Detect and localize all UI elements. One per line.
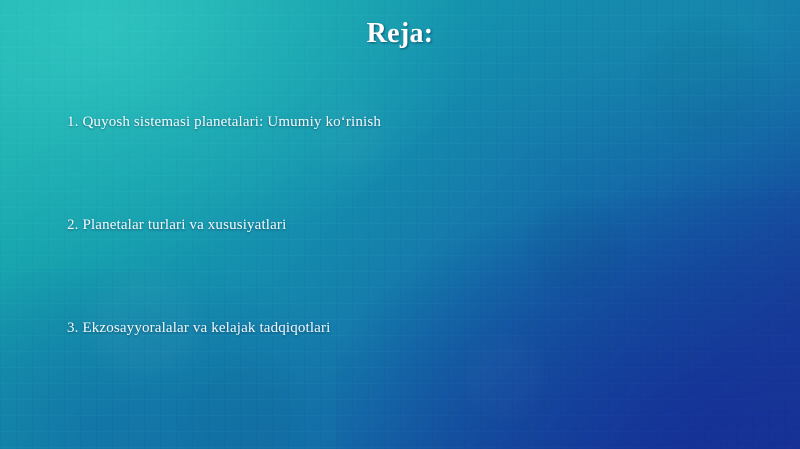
agenda-item: 2. Planetalar turlari va xususiyatlari [67, 215, 707, 318]
slide-content: Reja: 1. Quyosh sistemasi planetalari: U… [0, 0, 800, 449]
agenda-item: 1. Quyosh sistemasi planetalari: Umumiy … [67, 112, 707, 215]
agenda-list: 1. Quyosh sistemasi planetalari: Umumiy … [67, 112, 707, 421]
agenda-item: 3. Ekzosayyoralalar va kelajak tadqiqotl… [67, 318, 707, 421]
slide-title: Reja: [0, 18, 800, 50]
presentation-slide: Reja: 1. Quyosh sistemasi planetalari: U… [0, 0, 800, 449]
